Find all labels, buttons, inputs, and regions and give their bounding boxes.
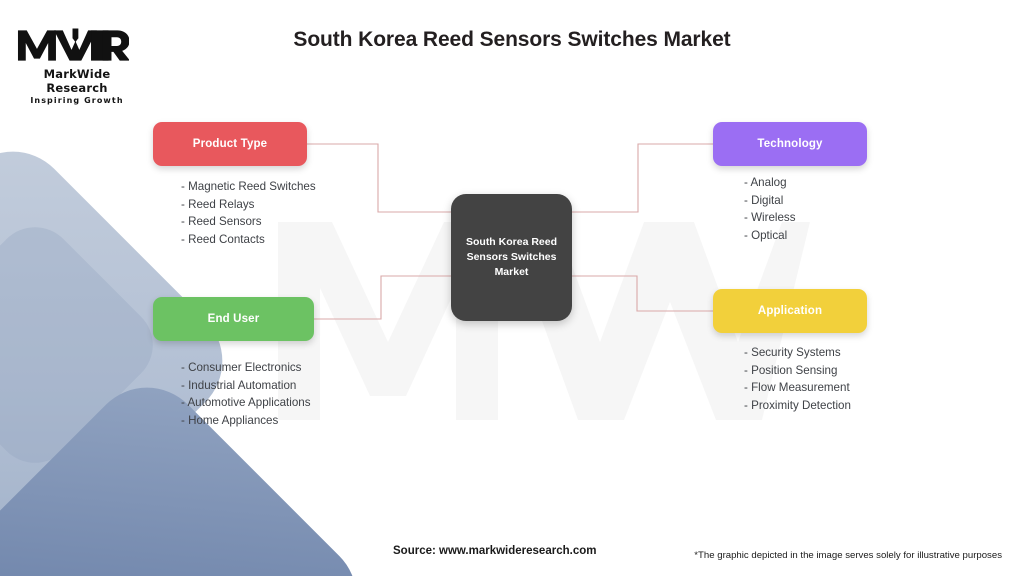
- list-item: - Reed Contacts: [181, 231, 316, 249]
- list-item: - Wireless: [744, 209, 796, 227]
- list-item: - Industrial Automation: [181, 377, 311, 395]
- footer-source: Source: www.markwideresearch.com: [393, 545, 596, 557]
- node-product-type[interactable]: Product Type: [153, 122, 307, 166]
- list-item: - Flow Measurement: [744, 379, 851, 397]
- node-technology-label: Technology: [757, 138, 822, 150]
- logo-tagline: Inspiring Growth: [17, 96, 137, 105]
- list-product-type: - Magnetic Reed Switches - Reed Relays -…: [181, 178, 316, 249]
- footer-disclaimer: *The graphic depicted in the image serve…: [694, 550, 1002, 561]
- list-item: - Reed Relays: [181, 196, 316, 214]
- list-item: - Security Systems: [744, 344, 851, 362]
- node-end-user[interactable]: End User: [153, 297, 314, 341]
- list-item: - Consumer Electronics: [181, 359, 311, 377]
- list-item: - Magnetic Reed Switches: [181, 178, 316, 196]
- node-center-label: South Korea Reed Sensors Switches Market: [461, 235, 562, 280]
- page-title: South Korea Reed Sensors Switches Market: [0, 28, 1024, 52]
- list-item: - Optical: [744, 227, 796, 245]
- node-center-market[interactable]: South Korea Reed Sensors Switches Market: [451, 194, 572, 321]
- list-end-user: - Consumer Electronics - Industrial Auto…: [181, 359, 311, 430]
- list-item: - Analog: [744, 174, 796, 192]
- logo-company-name: MarkWide Research: [17, 67, 137, 95]
- node-product-type-label: Product Type: [193, 138, 267, 150]
- list-item: - Position Sensing: [744, 362, 851, 380]
- list-item: - Reed Sensors: [181, 213, 316, 231]
- list-item: - Automotive Applications: [181, 394, 311, 412]
- list-application: - Security Systems - Position Sensing - …: [744, 344, 851, 415]
- node-end-user-label: End User: [208, 313, 260, 325]
- node-application[interactable]: Application: [713, 289, 867, 333]
- list-item: - Home Appliances: [181, 412, 311, 430]
- list-technology: - Analog - Digital - Wireless - Optical: [744, 174, 796, 245]
- diagram-canvas: Product Type - Magnetic Reed Switches - …: [0, 0, 1024, 576]
- node-application-label: Application: [758, 305, 822, 317]
- list-item: - Proximity Detection: [744, 397, 851, 415]
- node-technology[interactable]: Technology: [713, 122, 867, 166]
- list-item: - Digital: [744, 192, 796, 210]
